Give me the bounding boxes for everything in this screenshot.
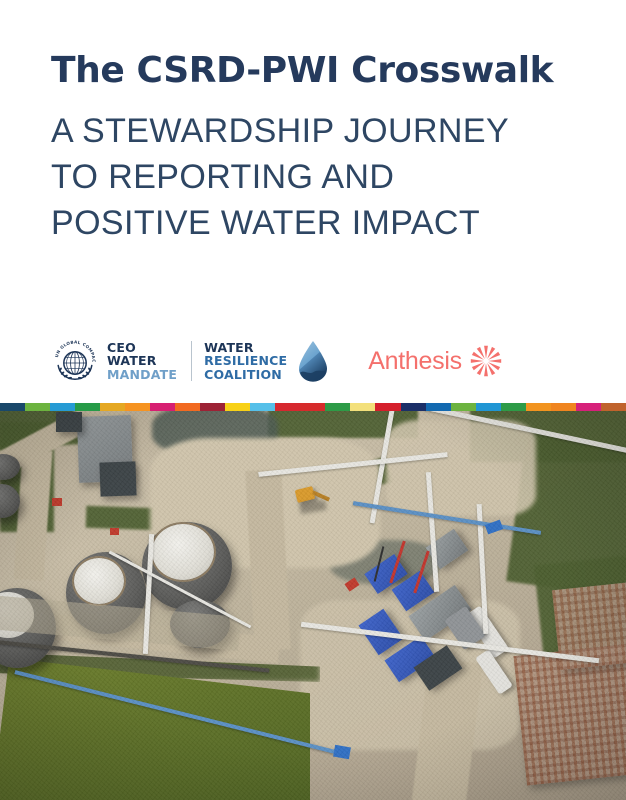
photo-building (99, 461, 136, 496)
ceo-water-mandate-line-3: MANDATE (107, 368, 177, 382)
sdg-bar-segment-5 (100, 403, 125, 411)
subtitle-line-1: A STEWARDSHIP JOURNEY (51, 108, 509, 154)
sdg-bar-segment-10 (225, 403, 250, 411)
ceo-water-mandate-line-1: CEO (107, 341, 177, 355)
logo-row: UN GLOBAL COMPACT (50, 336, 503, 386)
industrial-water-facility-aerial-photo (0, 410, 626, 800)
anthesis-wordmark: Anthesis (368, 347, 462, 376)
photo-object (110, 528, 119, 535)
subtitle-line-3: POSITIVE WATER IMPACT (51, 200, 509, 246)
photo-storage-tank-rim (72, 556, 126, 606)
photo-object (52, 498, 62, 506)
sdg-bar-segment-18 (426, 403, 451, 411)
sdg-bar-segment-22 (526, 403, 551, 411)
sdg-bar-segment-6 (125, 403, 150, 411)
ceo-water-mandate-line-2: WATER (107, 354, 177, 368)
logo-divider (191, 341, 192, 381)
document-cover-page: The CSRD-PWI Crosswalk A STEWARDSHIP JOU… (0, 0, 626, 800)
sdg-bar-segment-17 (401, 403, 426, 411)
sdg-bar-segment-11 (250, 403, 275, 411)
anthesis-logo: Anthesis (368, 344, 503, 378)
photo-storage-tank-rim (150, 522, 216, 582)
sdg-bar-segment-9 (200, 403, 225, 411)
page-title: The CSRD-PWI Crosswalk (51, 50, 553, 91)
sdg-color-bar (0, 403, 626, 411)
sdg-bar-segment-24 (576, 403, 601, 411)
sdg-bar-segment-16 (375, 403, 400, 411)
sdg-bar-segment-3 (50, 403, 75, 411)
sdg-bar-segment-13 (300, 403, 325, 411)
wrc-line-3: COALITION (204, 368, 287, 382)
page-subtitle: A STEWARDSHIP JOURNEY TO REPORTING AND P… (51, 108, 509, 246)
subtitle-line-2: TO REPORTING AND (51, 154, 509, 200)
sdg-bar-segment-14 (325, 403, 350, 411)
sdg-bar-segment-7 (150, 403, 175, 411)
photo-building (56, 412, 82, 432)
sdg-bar-segment-20 (476, 403, 501, 411)
sdg-bar-segment-21 (501, 403, 526, 411)
sdg-bar-segment-23 (551, 403, 576, 411)
sdg-bar-segment-12 (275, 403, 300, 411)
water-resilience-coalition-wordmark: WATER RESILIENCE COALITION (204, 341, 287, 382)
sdg-bar-segment-1 (0, 403, 25, 411)
un-global-compact-emblem: UN GLOBAL COMPACT (50, 336, 100, 386)
wrc-line-2: RESILIENCE (204, 354, 287, 368)
photo-sand-patch (386, 420, 536, 516)
photo-equipment (333, 745, 351, 760)
starburst-icon (469, 344, 503, 378)
wrc-line-1: WATER (204, 341, 287, 355)
water-droplet-icon (296, 339, 330, 383)
sdg-bar-segment-15 (350, 403, 375, 411)
sdg-bar-segment-25 (601, 403, 626, 411)
sdg-bar-segment-19 (451, 403, 476, 411)
svg-text:UN GLOBAL COMPACT: UN GLOBAL COMPACT (50, 336, 97, 363)
sdg-bar-segment-8 (175, 403, 200, 411)
sdg-bar-segment-4 (75, 403, 100, 411)
cover-header: The CSRD-PWI Crosswalk A STEWARDSHIP JOU… (0, 0, 626, 410)
ceo-water-mandate-wordmark: CEO WATER MANDATE (107, 341, 177, 382)
sdg-bar-segment-2 (25, 403, 50, 411)
